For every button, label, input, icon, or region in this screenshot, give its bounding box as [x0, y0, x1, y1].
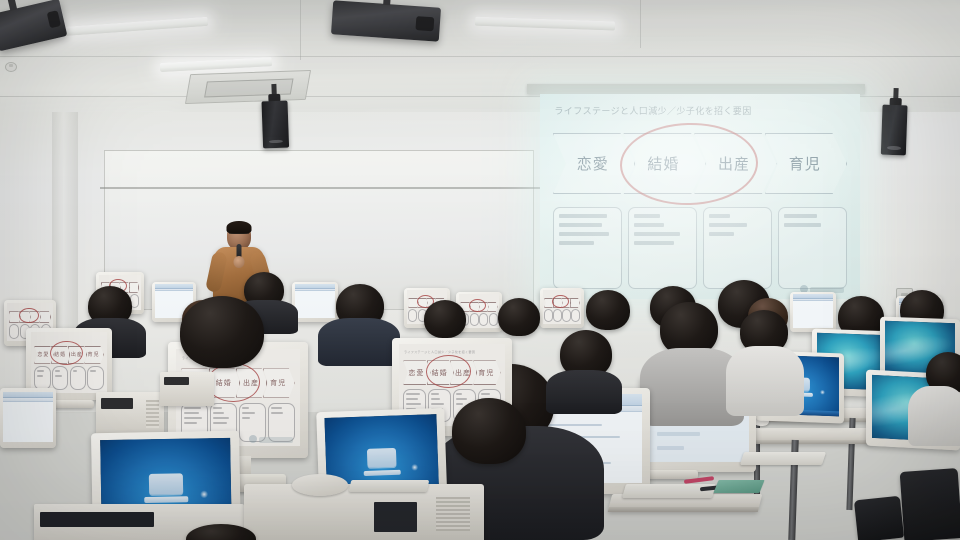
instructor-hand [234, 256, 245, 268]
pc-tower[interactable] [96, 392, 164, 436]
screen-document-window [793, 294, 833, 328]
screen-document-window [3, 392, 52, 442]
lifecycle-stage: 出産 [694, 133, 776, 195]
workstation-monitor[interactable] [790, 292, 836, 332]
ceiling-air-vent [185, 70, 311, 104]
student-head [498, 298, 540, 336]
projection-screen: ライフステージと人口減少／少子化を招く要因 恋愛 結婚 出産 育児 [540, 94, 860, 299]
lifecycle-stage: 結婚 [623, 133, 705, 195]
pc-tower[interactable] [160, 372, 214, 406]
classroom-photo-scene: ライフステージと人口減少／少子化を招く要因 恋愛 結婚 出産 育児 [0, 0, 960, 540]
lifecycle-chevron-row: 恋愛 結婚 出産 育児 [553, 133, 847, 195]
monitor-screen[interactable] [295, 284, 335, 318]
chair-back [900, 468, 960, 540]
student-head [424, 300, 466, 338]
slide-title: ライフステージと人口減少／少子化を招く要因 [554, 104, 842, 117]
pc-tower[interactable] [244, 484, 484, 540]
lifecycle-stage-label: 結婚 [216, 378, 232, 388]
ceiling-speaker-left [261, 84, 289, 149]
slide-title: ライフステージと人口減少／少子化を招く要因 [404, 350, 499, 354]
student-body [726, 346, 804, 416]
lifecycle-stage-label: 育児 [88, 351, 100, 358]
slide-detail-box [628, 207, 697, 289]
slide-detail-boxes [553, 207, 847, 289]
user-avatar-icon[interactable] [367, 448, 397, 468]
mousepad [713, 480, 764, 493]
lifecycle-stage-label: 育児 [478, 368, 494, 378]
student-body [546, 370, 622, 414]
projector-mount [383, 0, 391, 5]
lifecycle-stage-label: 結婚 [647, 153, 679, 174]
student-head [452, 398, 526, 464]
ceiling-sensor-icon [5, 62, 17, 72]
tower-vent [146, 400, 158, 428]
monitor-screen[interactable] [793, 294, 833, 328]
student-head [586, 290, 630, 330]
workstation-monitor[interactable] [540, 288, 584, 328]
mouse[interactable] [292, 474, 348, 496]
user-avatar-icon[interactable] [149, 473, 183, 494]
slide-detail-box [703, 207, 772, 289]
slide-footer-logo [259, 437, 293, 443]
lifecycle-stage-label: 結婚 [54, 351, 66, 358]
speaker-cabinet [261, 101, 289, 149]
projector-lens-icon [416, 16, 434, 32]
lifecycle-stage-label: 出産 [71, 351, 83, 358]
keyboard[interactable] [740, 452, 826, 465]
monitor-screen[interactable]: 恋愛 結婚 出産 育児 [31, 332, 107, 392]
projection-screen-housing [527, 84, 865, 94]
ceiling-grid-line [640, 0, 641, 48]
screen-sparkle [200, 491, 208, 499]
lifecycle-chevron-row: 恋愛 結婚 出産 育児 [403, 360, 500, 385]
keyboard[interactable] [349, 480, 430, 492]
screen-lifecycle-slide [543, 290, 582, 324]
optical-drive-icon[interactable] [40, 512, 153, 527]
monitor-screen[interactable] [543, 290, 582, 324]
ceiling-speaker-right [881, 88, 908, 155]
lifecycle-stage-label: 出産 [718, 153, 750, 174]
lifecycle-stage-label: 恋愛 [408, 368, 424, 378]
screen-sparkle [411, 464, 418, 471]
speaker-cabinet [881, 105, 908, 156]
workstation-monitor[interactable] [0, 388, 56, 448]
optical-drive-icon[interactable] [101, 398, 132, 409]
screen-lifecycle-slide: 恋愛 結婚 出産 育児 [31, 332, 107, 392]
lifecycle-stage-label: 育児 [270, 378, 286, 388]
slide-content: ライフステージと人口減少／少子化を招く要因 恋愛 結婚 出産 育児 [540, 94, 860, 299]
tower-vent [436, 497, 470, 531]
monitor-base [646, 470, 698, 479]
monitor-screen[interactable] [3, 392, 52, 442]
student-body [318, 318, 400, 366]
workstation-monitor[interactable] [292, 282, 338, 322]
lifecycle-stage-label: 恋愛 [37, 351, 49, 358]
optical-drive-icon[interactable] [374, 502, 417, 532]
lifecycle-stage-label: 出産 [243, 378, 259, 388]
ceiling-grid-line [300, 0, 301, 60]
lifecycle-stage: 育児 [765, 133, 847, 195]
lifecycle-stage: 恋愛 [553, 133, 635, 195]
lifecycle-stage-label: 恋愛 [577, 153, 609, 174]
student-body [908, 386, 960, 446]
lifecycle-stage-label: 育児 [789, 153, 821, 174]
slide-detail-box [778, 207, 847, 289]
glasses-icon [229, 233, 249, 237]
ceiling-grid-line [0, 56, 960, 57]
screen-document-window [295, 284, 335, 318]
lifecycle-stage-label: 結婚 [432, 368, 448, 378]
lifecycle-stage-label: 出産 [455, 368, 471, 378]
slide-detail-box [553, 207, 622, 289]
student-head [180, 296, 264, 368]
projector-lens-icon [46, 10, 61, 29]
optical-drive-icon[interactable] [164, 377, 189, 385]
chair-back [854, 496, 904, 540]
